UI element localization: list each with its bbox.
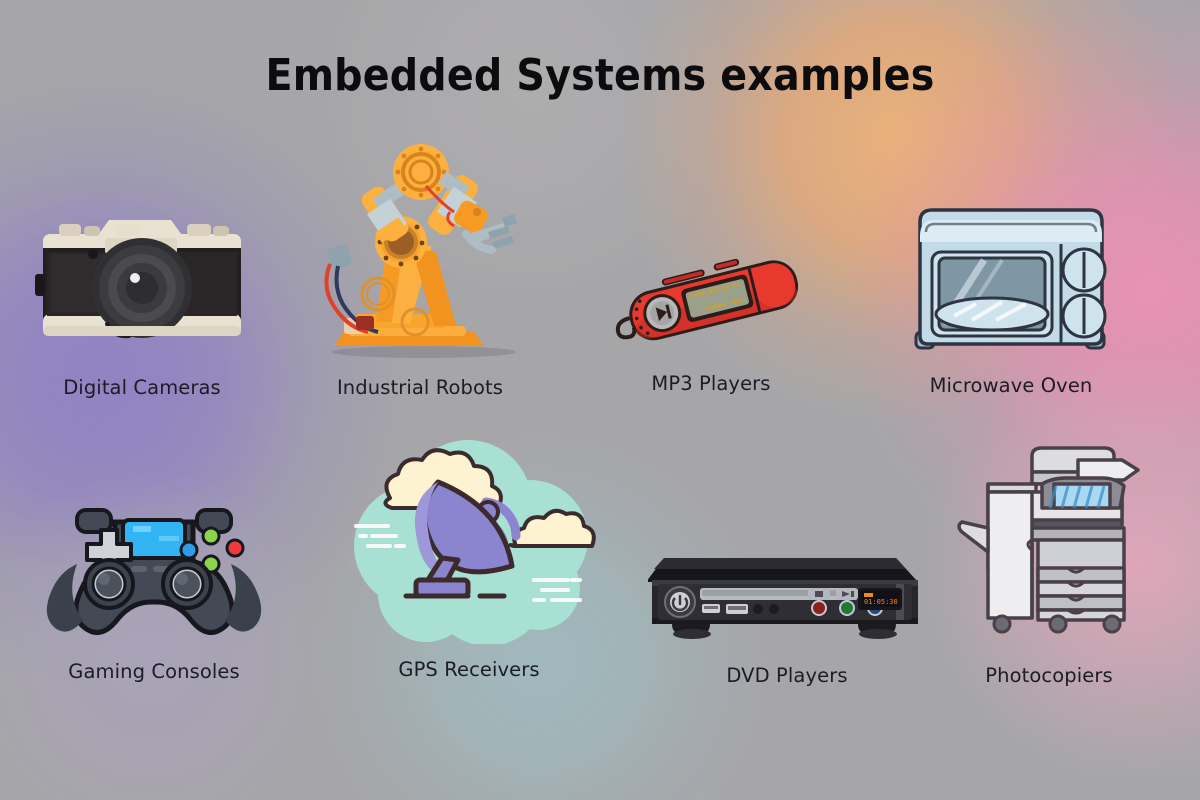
- caption-dvd-players: DVD Players: [726, 664, 847, 687]
- caption-mp3-players: MP3 Players: [651, 372, 770, 395]
- poster-canvas: Embedded Systems examples: [0, 0, 1200, 800]
- microwave-oven-icon: [898, 192, 1124, 358]
- photocopier-icon: [946, 436, 1152, 650]
- digital-camera-icon: [31, 212, 253, 360]
- item-digital-cameras: Digital Cameras: [31, 212, 253, 399]
- caption-microwave-oven: Microwave Oven: [930, 374, 1093, 397]
- satellite-dish-icon: [338, 438, 600, 644]
- item-gaming-consoles: Gaming Consoles: [41, 500, 267, 683]
- item-industrial-robots: Industrial Robots: [316, 138, 524, 399]
- page-title: Embedded Systems examples: [0, 50, 1200, 101]
- caption-digital-cameras: Digital Cameras: [63, 376, 221, 399]
- caption-photocopiers: Photocopiers: [985, 664, 1112, 687]
- item-dvd-players: 01:05:30 DVD Players: [648, 544, 926, 687]
- dvd-player-icon: 01:05:30: [648, 544, 926, 648]
- gamepad-icon: [41, 500, 267, 644]
- caption-gaming-consoles: Gaming Consoles: [68, 660, 239, 683]
- mp3-player-icon: [606, 246, 816, 358]
- caption-gps-receivers: GPS Receivers: [398, 658, 539, 681]
- item-mp3-players: MP3 Players: [606, 246, 816, 395]
- caption-industrial-robots: Industrial Robots: [337, 376, 503, 399]
- industrial-robot-arm-icon: [316, 138, 524, 360]
- item-photocopiers: Photocopiers: [946, 436, 1152, 687]
- item-gps-receivers: GPS Receivers: [338, 438, 600, 681]
- item-microwave-oven: Microwave Oven: [898, 192, 1124, 397]
- dvd-display-text: 01:05:30: [864, 598, 898, 606]
